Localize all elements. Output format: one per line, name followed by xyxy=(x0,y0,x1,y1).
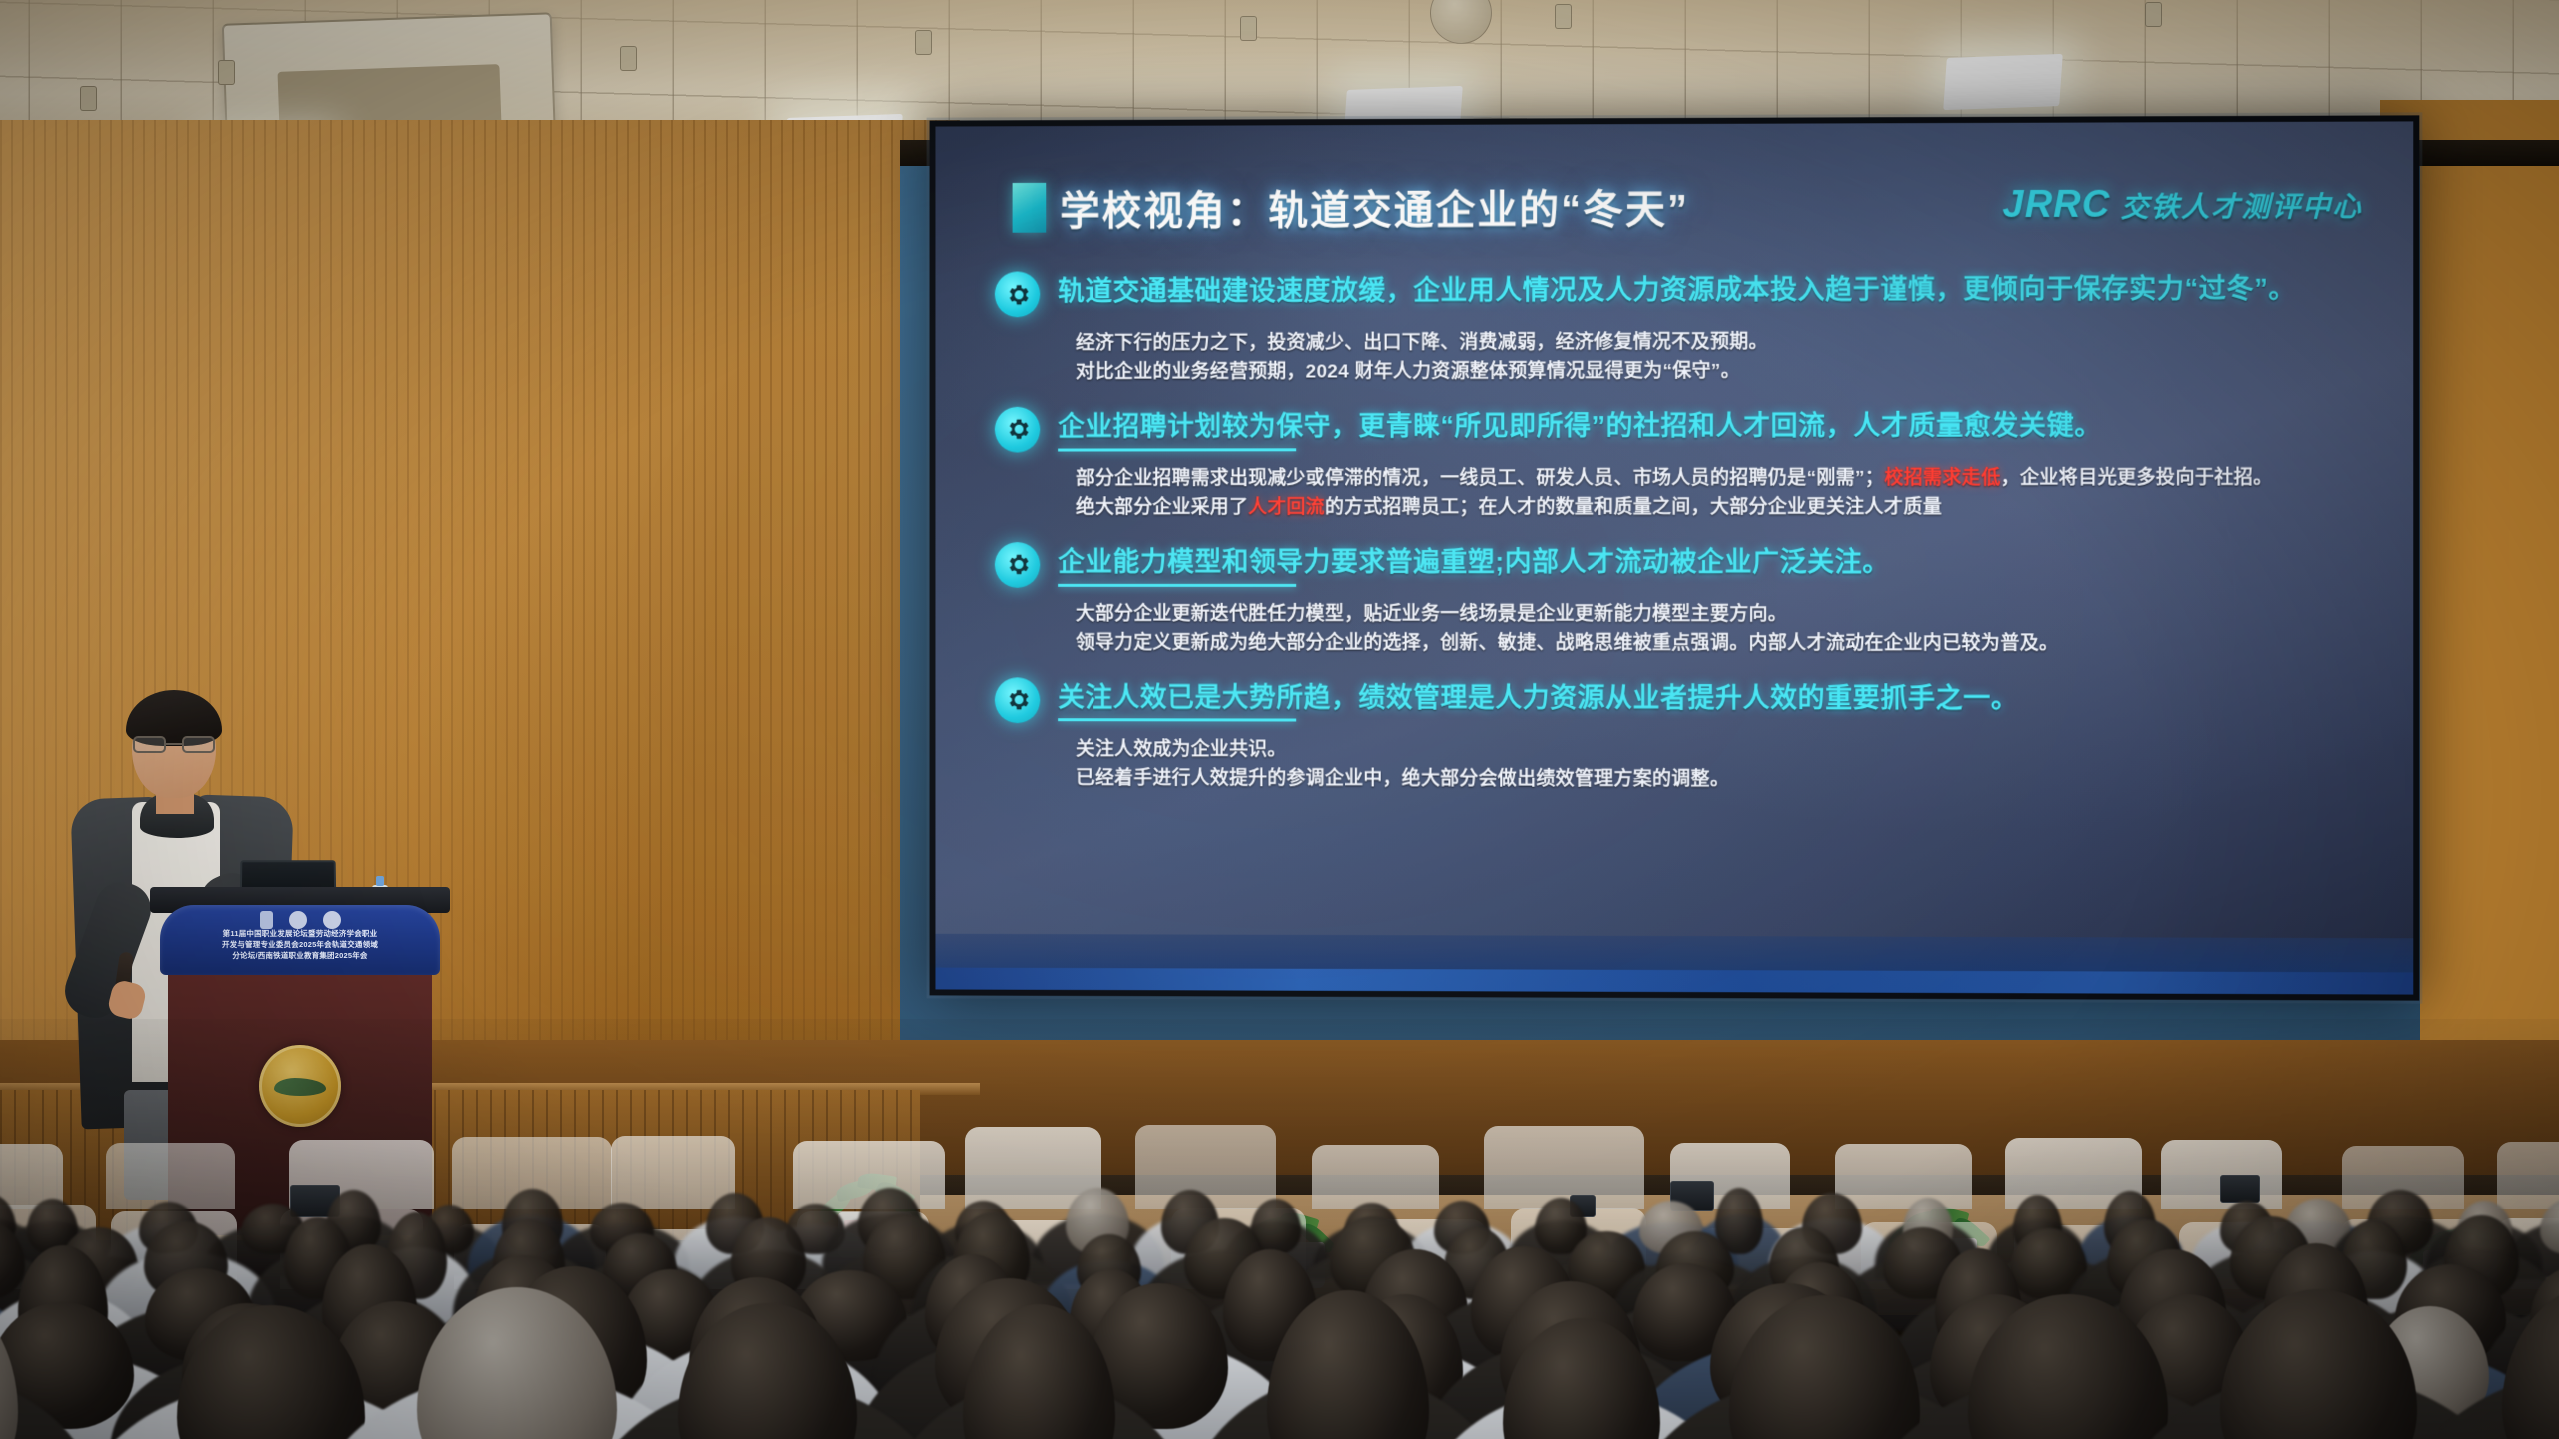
sprinkler-icon xyxy=(1555,4,1572,29)
highlighted-text: 校招需求走低 xyxy=(1884,468,2000,489)
sub-text: 关注人效成为企业共识。 xyxy=(1076,739,1287,760)
bullet-underline xyxy=(1058,583,1296,586)
sprinkler-icon xyxy=(915,30,932,55)
sub-text: ，企业将目光更多投向于社招。 xyxy=(2001,467,2273,488)
bullet-sub-list: 大部分企业更新迭代胜任力模型，贴近业务一线场景是企业更新能力模型主要方向。领导力… xyxy=(1076,600,2365,660)
highlighted-text: 人才回流 xyxy=(1248,497,1325,518)
bullet-heading-row: 关注人效已是大势所趋，绩效管理是人力资源从业者提升人效的重要抓手之一。 xyxy=(995,681,2365,725)
auditorium-seat xyxy=(611,1136,735,1209)
bullet-heading-row: 企业招聘计划较为保守，更青睐“所见即所得”的社招和人才回流，人才质量愈发关键。 xyxy=(995,409,2365,452)
slide-header: 学校视角：轨道交通企业的“冬天” JRRC 交铁人才测评中心 xyxy=(1013,168,2363,244)
bullet-underline xyxy=(1058,719,1296,722)
presentation-slide: 学校视角：轨道交通企业的“冬天” JRRC 交铁人才测评中心 轨道交通基础建设速… xyxy=(935,121,2413,994)
glasses-icon xyxy=(133,736,215,753)
organizer-logo-icon xyxy=(289,911,307,929)
gear-icon xyxy=(995,271,1041,317)
auditorium-seat xyxy=(1835,1144,1972,1209)
sub-text: 对比企业的业务经营预期，2024 财年人力资源整体预算情况显得更为“保守”。 xyxy=(1076,361,1740,383)
slide-title-group: 学校视角：轨道交通企业的“冬天” xyxy=(1013,177,1689,237)
jrrc-logo: JRRC 交铁人才测评中心 xyxy=(2002,182,2362,226)
gear-icon xyxy=(995,677,1041,723)
auditorium-seat xyxy=(1484,1126,1644,1209)
bullet-sub-line: 领导力定义更新成为绝大部分企业的选择，创新、敏捷、战略思维被重点强调。内部人才流… xyxy=(1076,629,2365,659)
title-accent-square-icon xyxy=(1013,183,1047,233)
sprinkler-icon xyxy=(620,46,637,71)
sub-text: 已经着手进行人效提升的参调企业中，绝大部分会做出绩效管理方案的调整。 xyxy=(1076,768,1729,790)
slide-title: 学校视角：轨道交通企业的“冬天” xyxy=(1060,177,1689,237)
bullet-heading-text: 企业能力模型和领导力要求普遍重塑;内部人才流动被企业广泛关注。 xyxy=(1058,546,1890,580)
brand-en-label: JRRC xyxy=(2002,183,2110,226)
presentation-photo: 学校视角：轨道交通企业的“冬天” JRRC 交铁人才测评中心 轨道交通基础建设速… xyxy=(0,0,2559,1439)
bullet-sub-line: 已经着手进行人效提升的参调企业中，绝大部分会做出绩效管理方案的调整。 xyxy=(1076,764,2365,796)
sub-text: 的方式招聘员工；在人才的数量和质量之间，大部分企业更关注人才质量 xyxy=(1325,497,1942,518)
bullet-sub-line: 经济下行的压力之下，投资减少、出口下降、消费减弱，经济修复情况不及预期。 xyxy=(1076,327,2365,359)
auditorium-seat xyxy=(1312,1145,1439,1209)
slide-footer-band xyxy=(935,934,2413,995)
bullet-heading-row: 轨道交通基础建设速度放缓，企业用人情况及人力资源成本投入趋于谨慎，更倾向于保存实… xyxy=(995,272,2365,317)
brand-cn-label: 交铁人才测评中心 xyxy=(2121,184,2363,225)
gear-icon xyxy=(995,542,1041,588)
sub-text: 领导力定义更新成为绝大部分企业的选择，创新、敏捷、战略思维被重点强调。内部人才流… xyxy=(1076,633,2058,655)
bullet-underline xyxy=(1058,448,1296,451)
auditorium-seat xyxy=(106,1143,235,1209)
organizer-logo-icon xyxy=(260,911,273,929)
ceiling-light xyxy=(1943,54,2063,110)
sprinkler-icon xyxy=(1240,16,1257,41)
slide-bullet: 轨道交通基础建设速度放缓，企业用人情况及人力资源成本投入趋于谨慎，更倾向于保存实… xyxy=(995,272,2365,387)
bullet-heading-row: 企业能力模型和领导力要求普遍重塑;内部人才流动被企业广泛关注。 xyxy=(995,546,2365,588)
slide-bullet: 关注人效已是大势所趋，绩效管理是人力资源从业者提升人效的重要抓手之一。关注人效成… xyxy=(995,681,2365,796)
organizer-logo-icon xyxy=(323,911,341,929)
gear-icon xyxy=(995,407,1041,453)
bullet-sub-list: 部分企业招聘需求出现减少或停滞的情况，一线员工、研发人员、市场人员的招聘仍是“刚… xyxy=(1076,463,2365,523)
podium-logo-row xyxy=(160,909,440,931)
bullet-heading-text: 企业招聘计划较为保守，更青睐“所见即所得”的社招和人才回流，人才质量愈发关键。 xyxy=(1058,409,2102,444)
bullet-sub-line: 关注人效成为企业共识。 xyxy=(1076,735,2365,766)
audience-monitor xyxy=(2220,1175,2260,1203)
audience xyxy=(0,1019,2559,1439)
sprinkler-icon xyxy=(80,86,97,111)
bullet-sub-line: 对比企业的业务经营预期，2024 财年人力资源整体预算情况显得更为“保守”。 xyxy=(1076,356,2365,387)
slide-bullet-list: 轨道交通基础建设速度放缓，企业用人情况及人力资源成本投入趋于谨慎，更倾向于保存实… xyxy=(995,272,2365,819)
slide-bullet: 企业能力模型和领导力要求普遍重塑;内部人才流动被企业广泛关注。大部分企业更新迭代… xyxy=(995,546,2365,660)
sub-text: 大部分企业更新迭代胜任力模型，贴近业务一线场景是企业更新能力模型主要方向。 xyxy=(1076,604,1787,625)
bullet-heading-text: 关注人效已是大势所趋，绩效管理是人力资源从业者提升人效的重要抓手之一。 xyxy=(1058,681,2018,716)
bullet-sub-line: 部分企业招聘需求出现减少或停滞的情况，一线员工、研发人员、市场人员的招聘仍是“刚… xyxy=(1076,463,2365,493)
sub-text: 绝大部分企业采用了 xyxy=(1076,498,1248,519)
sprinkler-icon xyxy=(218,60,235,85)
bullet-sub-list: 关注人效成为企业共识。已经着手进行人效提升的参调企业中，绝大部分会做出绩效管理方… xyxy=(1076,735,2365,796)
auditorium-seat xyxy=(2497,1142,2559,1209)
slide-bullet: 企业招聘计划较为保守，更青睐“所见即所得”的社招和人才回流，人才质量愈发关键。部… xyxy=(995,409,2365,523)
sub-text: 部分企业招聘需求出现减少或停滞的情况，一线员工、研发人员、市场人员的招聘仍是“刚… xyxy=(1076,468,1884,489)
podium-banner-line: 第11届中国职业发展论坛暨劳动经济学会职业 xyxy=(172,929,428,940)
podium-banner-line: 开发与管理专业委员会2025年会轨道交通领域 xyxy=(172,940,428,951)
podium-banner-text: 第11届中国职业发展论坛暨劳动经济学会职业 开发与管理专业委员会2025年会轨道… xyxy=(172,929,428,962)
podium-banner: 第11届中国职业发展论坛暨劳动经济学会职业 开发与管理专业委员会2025年会轨道… xyxy=(160,905,440,975)
projection-screen: 学校视角：轨道交通企业的“冬天” JRRC 交铁人才测评中心 轨道交通基础建设速… xyxy=(930,115,2420,1000)
podium-banner-line: 分论坛/西南铁道职业教育集团2025年会 xyxy=(172,951,428,962)
sub-text: 经济下行的压力之下，投资减少、出口下降、消费减弱，经济修复情况不及预期。 xyxy=(1076,332,1768,354)
bullet-heading-text: 轨道交通基础建设速度放缓，企业用人情况及人力资源成本投入趋于谨慎，更倾向于保存实… xyxy=(1058,273,2296,309)
bullet-sub-list: 经济下行的压力之下，投资减少、出口下降、消费减弱，经济修复情况不及预期。对比企业… xyxy=(1076,327,2365,388)
bullet-sub-line: 大部分企业更新迭代胜任力模型，贴近业务一线场景是企业更新能力模型主要方向。 xyxy=(1076,600,2365,630)
bullet-sub-line: 绝大部分企业采用了人才回流的方式招聘员工；在人才的数量和质量之间，大部分企业更关… xyxy=(1076,493,2365,523)
sprinkler-icon xyxy=(2145,2,2162,27)
